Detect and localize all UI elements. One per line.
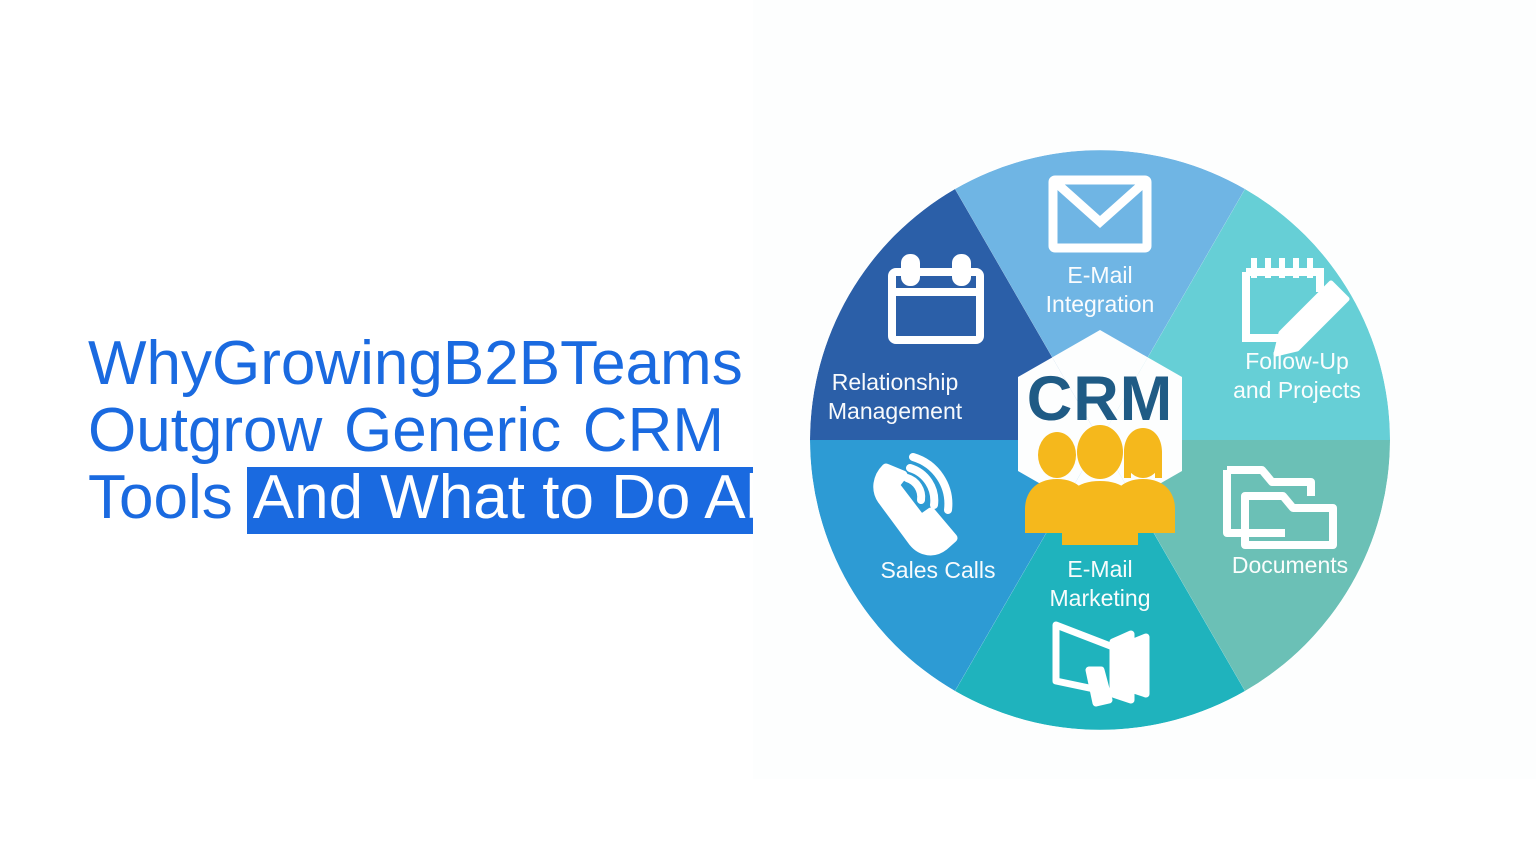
segment-label-line2: Marketing — [1050, 585, 1151, 611]
segment-label-line1: Follow-Up — [1245, 348, 1349, 374]
crm-center: CRM — [1025, 364, 1175, 545]
segment-label-line2: Management — [828, 398, 963, 424]
slide-canvas: Why Growing B2B Teams Outgrow Generic CR… — [0, 0, 1536, 864]
segment-label-line2: Integration — [1046, 291, 1155, 317]
people-group-icon — [1025, 425, 1175, 545]
crm-center-label: CRM — [1027, 364, 1173, 434]
crm-hexagon-wheel: E-Mail Integration — [0, 0, 1536, 864]
segment-label-line1: Sales Calls — [880, 557, 995, 583]
segment-label-line1: E-Mail — [1067, 556, 1132, 582]
segment-label-line1: Relationship — [832, 369, 959, 395]
segment-label-line1: E-Mail — [1067, 262, 1132, 288]
segment-label-line1: Documents — [1232, 552, 1348, 578]
segment-label-line2: and Projects — [1233, 377, 1361, 403]
crm-diagram-panel: E-Mail Integration — [753, 0, 1536, 779]
